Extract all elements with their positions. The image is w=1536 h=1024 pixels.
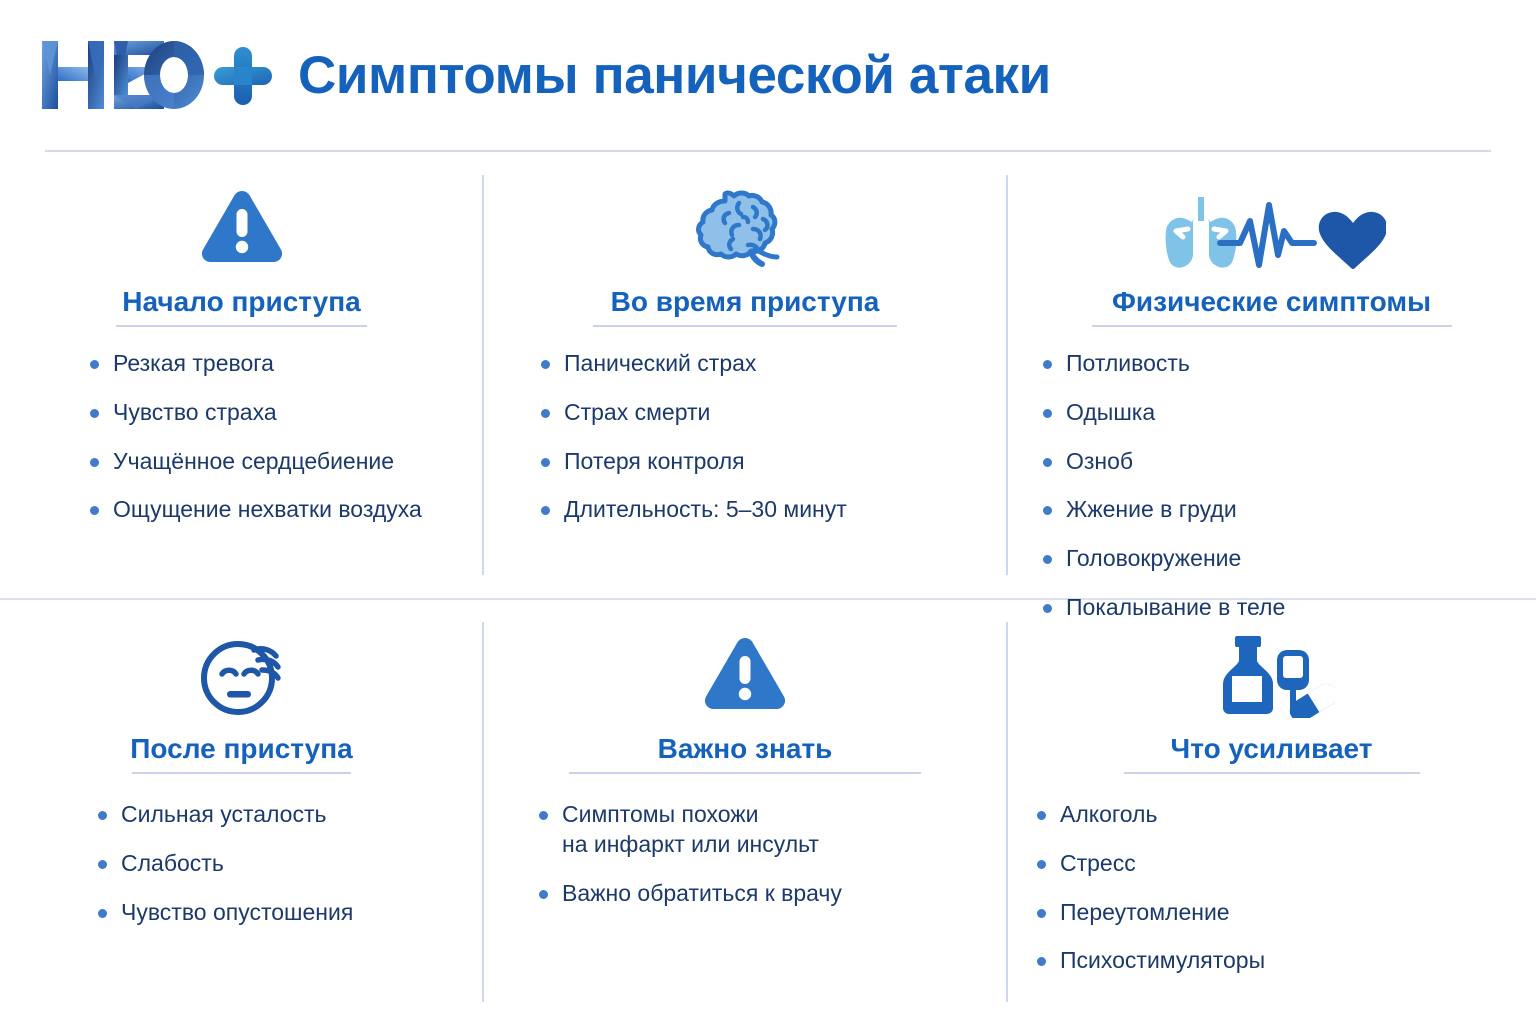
list-item: Важно обратиться к врачу [539, 879, 1007, 909]
bullet-dot-icon [98, 811, 107, 820]
list-item-label: Сильная усталость [121, 800, 327, 830]
list-item-label: Жжение в груди [1066, 495, 1237, 525]
bullet-dot-icon [1043, 409, 1052, 418]
heading-underline [569, 772, 921, 774]
header-divider [45, 150, 1491, 152]
page-title: Симптомы панической атаки [298, 49, 1051, 102]
cards-row-bottom: После приступа Сильная усталость Слабост… [0, 600, 1536, 1024]
list-item: Потеря контроля [541, 447, 1007, 477]
list-item: Страх смерти [541, 398, 1007, 428]
list-item: Одышка [1043, 398, 1536, 428]
heading-underline [1124, 772, 1420, 774]
card-during-attack[interactable]: Во время приступа Панический страх Страх… [483, 153, 1007, 598]
symptom-list: Сильная усталость Слабость Чувство опуст… [98, 800, 483, 928]
list-item: Слабость [98, 849, 483, 879]
card-heading: Что усиливает [1007, 734, 1536, 765]
list-item-label: Страх смерти [564, 398, 710, 428]
list-item-label: Резкая тревога [113, 349, 274, 379]
card-physical-symptoms[interactable]: Физические симптомы Потливость Одышка Оз… [1007, 153, 1536, 598]
card-icon-wrap [483, 626, 1007, 718]
list-item: Алкоголь [1037, 800, 1536, 830]
list-item-label: Учащённое сердцебиение [113, 447, 394, 477]
page-header: Симптомы панической атаки [0, 0, 1536, 150]
bullet-dot-icon [1043, 555, 1052, 564]
card-heading: Физические симптомы [1007, 287, 1536, 318]
neo-plus-logo-icon[interactable] [36, 33, 276, 117]
list-item-label: Психостимуляторы [1060, 946, 1265, 976]
card-icon-wrap [1007, 179, 1536, 271]
list-item: Озноб [1043, 447, 1536, 477]
cards-grid: Начало приступа Резкая тревога Чувство с… [0, 153, 1536, 1024]
list-item: Резкая тревога [90, 349, 483, 379]
bullet-dot-icon [98, 909, 107, 918]
bullet-dot-icon [1043, 458, 1052, 467]
cards-row-top: Начало приступа Резкая тревога Чувство с… [0, 153, 1536, 598]
bullet-dot-icon [1043, 360, 1052, 369]
list-item: Симптомы похожи на инфаркт или инсульт [539, 800, 1007, 860]
bullet-dot-icon [1043, 506, 1052, 515]
bullet-dot-icon [1037, 909, 1046, 918]
list-item-label: Важно обратиться к врачу [562, 879, 842, 909]
list-item-label: Переутомление [1060, 898, 1230, 928]
card-heading: Во время приступа [483, 287, 1007, 318]
card-start-of-attack[interactable]: Начало приступа Резкая тревога Чувство с… [0, 153, 483, 598]
list-item-label: Чувство опустошения [121, 898, 353, 928]
symptom-list: Потливость Одышка Озноб Жжение в груди Г… [1043, 349, 1536, 623]
card-icon-wrap [483, 179, 1007, 271]
symptom-list: Резкая тревога Чувство страха Учащённое … [90, 349, 483, 526]
heading-underline [116, 325, 367, 327]
card-heading: Важно знать [483, 734, 1007, 765]
list-item: Сильная усталость [98, 800, 483, 830]
list-item-label: Длительность: 5–30 минут [564, 495, 847, 525]
list-item-label: Стресс [1060, 849, 1136, 879]
heading-underline [593, 325, 897, 327]
list-item: Панический страх [541, 349, 1007, 379]
lungs-heartbeat-heart-icon [1158, 193, 1386, 271]
list-item: Жжение в груди [1043, 495, 1536, 525]
card-icon-wrap [0, 626, 483, 718]
card-icon-wrap [1007, 626, 1536, 718]
symptom-list: Панический страх Страх смерти Потеря кон… [541, 349, 1007, 526]
bullet-dot-icon [541, 360, 550, 369]
list-item: Головокружение [1043, 544, 1536, 574]
bullet-dot-icon [90, 360, 99, 369]
heading-underline [132, 772, 351, 774]
bullet-dot-icon [90, 409, 99, 418]
bullet-dot-icon [1037, 811, 1046, 820]
list-item-label: Головокружение [1066, 544, 1241, 574]
list-item: Потливость [1043, 349, 1536, 379]
list-item-label: Слабость [121, 849, 224, 879]
warning-triangle-icon [701, 632, 789, 712]
card-icon-wrap [0, 179, 483, 271]
bullet-dot-icon [541, 409, 550, 418]
symptom-list: Алкоголь Стресс Переутомление Психостиму… [1037, 800, 1536, 977]
card-heading: Начало приступа [0, 287, 483, 318]
bullet-dot-icon [539, 890, 548, 899]
bullet-dot-icon [541, 458, 550, 467]
bottle-glass-pill-icon [1209, 634, 1335, 718]
symptom-list: Симптомы похожи на инфаркт или инсульт В… [539, 800, 1007, 909]
list-item: Длительность: 5–30 минут [541, 495, 1007, 525]
list-item-label: Одышка [1066, 398, 1155, 428]
list-item: Чувство страха [90, 398, 483, 428]
card-heading: После приступа [0, 734, 483, 765]
brain-icon [693, 187, 797, 271]
bullet-dot-icon [98, 860, 107, 869]
bullet-dot-icon [90, 506, 99, 515]
list-item-label: Ощущение нехватки воздуха [113, 495, 422, 525]
list-item-label: Симптомы похожи на инфаркт или инсульт [562, 800, 819, 860]
list-item-label: Панический страх [564, 349, 756, 379]
list-item: Ощущение нехватки воздуха [90, 495, 483, 525]
warning-triangle-icon [198, 185, 286, 265]
list-item: Чувство опустошения [98, 898, 483, 928]
list-item: Учащённое сердцебиение [90, 447, 483, 477]
heading-underline [1092, 325, 1452, 327]
list-item: Переутомление [1037, 898, 1536, 928]
card-what-worsens[interactable]: Что усиливает Алкоголь Стресс Переутомле… [1007, 600, 1536, 1024]
card-after-attack[interactable]: После приступа Сильная усталость Слабост… [0, 600, 483, 1024]
list-item: Психостимуляторы [1037, 946, 1536, 976]
bullet-dot-icon [541, 506, 550, 515]
bullet-dot-icon [1037, 860, 1046, 869]
bullet-dot-icon [1037, 957, 1046, 966]
list-item-label: Потливость [1066, 349, 1190, 379]
list-item: Стресс [1037, 849, 1536, 879]
list-item-label: Алкоголь [1060, 800, 1157, 830]
tired-face-icon [196, 632, 288, 718]
list-item-label: Озноб [1066, 447, 1133, 477]
list-item-label: Потеря контроля [564, 447, 745, 477]
bullet-dot-icon [539, 811, 548, 820]
card-important-to-know[interactable]: Важно знать Симптомы похожи на инфаркт и… [483, 600, 1007, 1024]
list-item-label: Чувство страха [113, 398, 277, 428]
bullet-dot-icon [90, 458, 99, 467]
